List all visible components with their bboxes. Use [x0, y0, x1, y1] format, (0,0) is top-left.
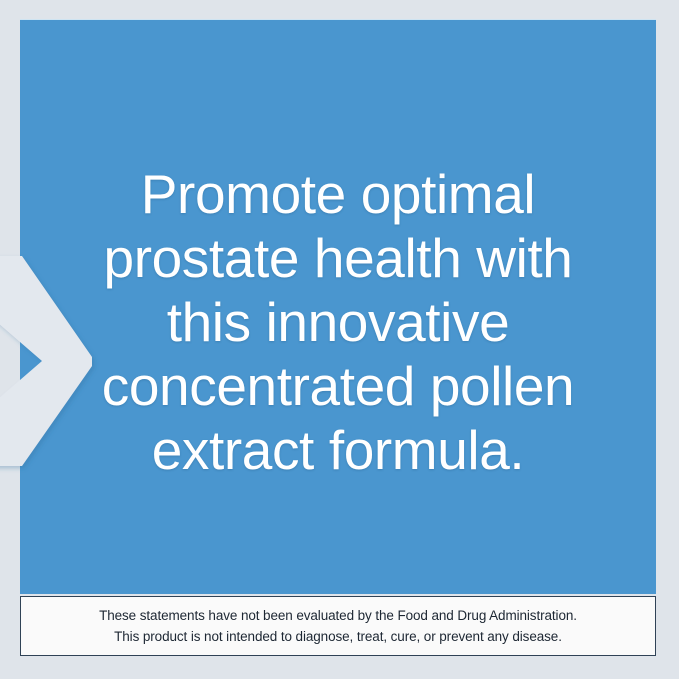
headline-line: concentrated pollen [78, 354, 598, 418]
hero-panel: Promote optimal prostate health with thi… [20, 20, 656, 594]
headline-line: this innovative [78, 290, 598, 354]
headline-line: Promote optimal [78, 162, 598, 226]
disclaimer-line: These statements have not been evaluated… [99, 605, 577, 626]
headline-line: prostate health with [78, 226, 598, 290]
product-marketing-card: Promote optimal prostate health with thi… [0, 0, 679, 679]
fda-disclaimer-box: These statements have not been evaluated… [20, 596, 656, 656]
disclaimer-line: This product is not intended to diagnose… [114, 626, 562, 647]
headline-line: extract formula. [78, 418, 598, 482]
page-title: Promote optimal prostate health with thi… [78, 162, 598, 482]
